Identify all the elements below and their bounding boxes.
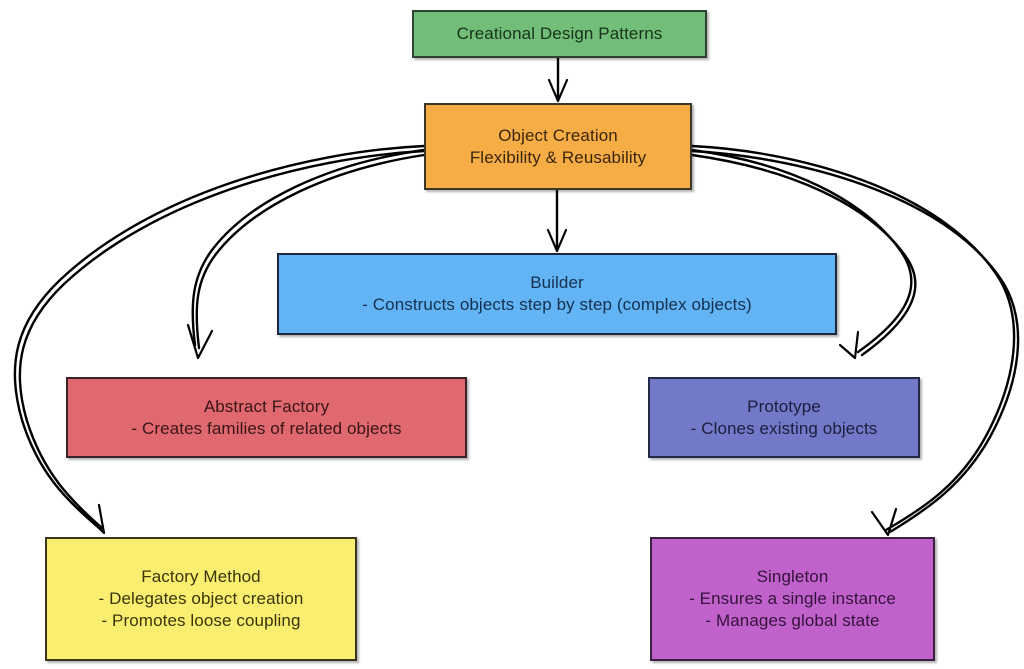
node-singleton-title: Singleton — [757, 566, 829, 588]
node-prototype-title: Prototype — [747, 396, 821, 418]
node-singleton-detail-1: - Ensures a single instance — [689, 588, 896, 610]
node-singleton[interactable]: Singleton - Ensures a single instance - … — [650, 537, 935, 661]
node-abstract-factory[interactable]: Abstract Factory - Creates families of r… — [66, 377, 467, 458]
node-root-line-1: Creational Design Patterns — [457, 23, 663, 45]
node-builder-title: Builder — [530, 272, 584, 294]
node-prototype-detail-1: - Clones existing objects — [691, 418, 878, 440]
node-factory-method-detail-2: - Promotes loose coupling — [101, 610, 300, 632]
node-builder[interactable]: Builder - Constructs objects step by ste… — [277, 253, 837, 335]
node-singleton-detail-2: - Manages global state — [705, 610, 879, 632]
node-goal-line-1: Object Creation — [498, 125, 618, 147]
node-object-creation[interactable]: Object Creation Flexibility & Reusabilit… — [424, 103, 692, 190]
node-factory-method-title: Factory Method — [141, 566, 261, 588]
node-goal-line-2: Flexibility & Reusability — [470, 147, 646, 169]
diagram-canvas: Creational Design Patterns Object Creati… — [0, 0, 1024, 669]
edge-goal-to-factory-method — [15, 146, 424, 533]
node-abstract-factory-title: Abstract Factory — [204, 396, 329, 418]
node-factory-method[interactable]: Factory Method - Delegates object creati… — [45, 537, 357, 661]
edge-root-to-goal — [549, 58, 567, 101]
node-prototype[interactable]: Prototype - Clones existing objects — [648, 377, 920, 458]
node-factory-method-detail-1: - Delegates object creation — [99, 588, 304, 610]
node-abstract-factory-detail-1: - Creates families of related objects — [131, 418, 401, 440]
node-creational-design-patterns[interactable]: Creational Design Patterns — [412, 10, 707, 58]
edge-goal-to-builder — [548, 191, 566, 251]
edge-goal-to-singleton — [692, 146, 1018, 535]
node-builder-detail-1: - Constructs objects step by step (compl… — [362, 294, 752, 316]
